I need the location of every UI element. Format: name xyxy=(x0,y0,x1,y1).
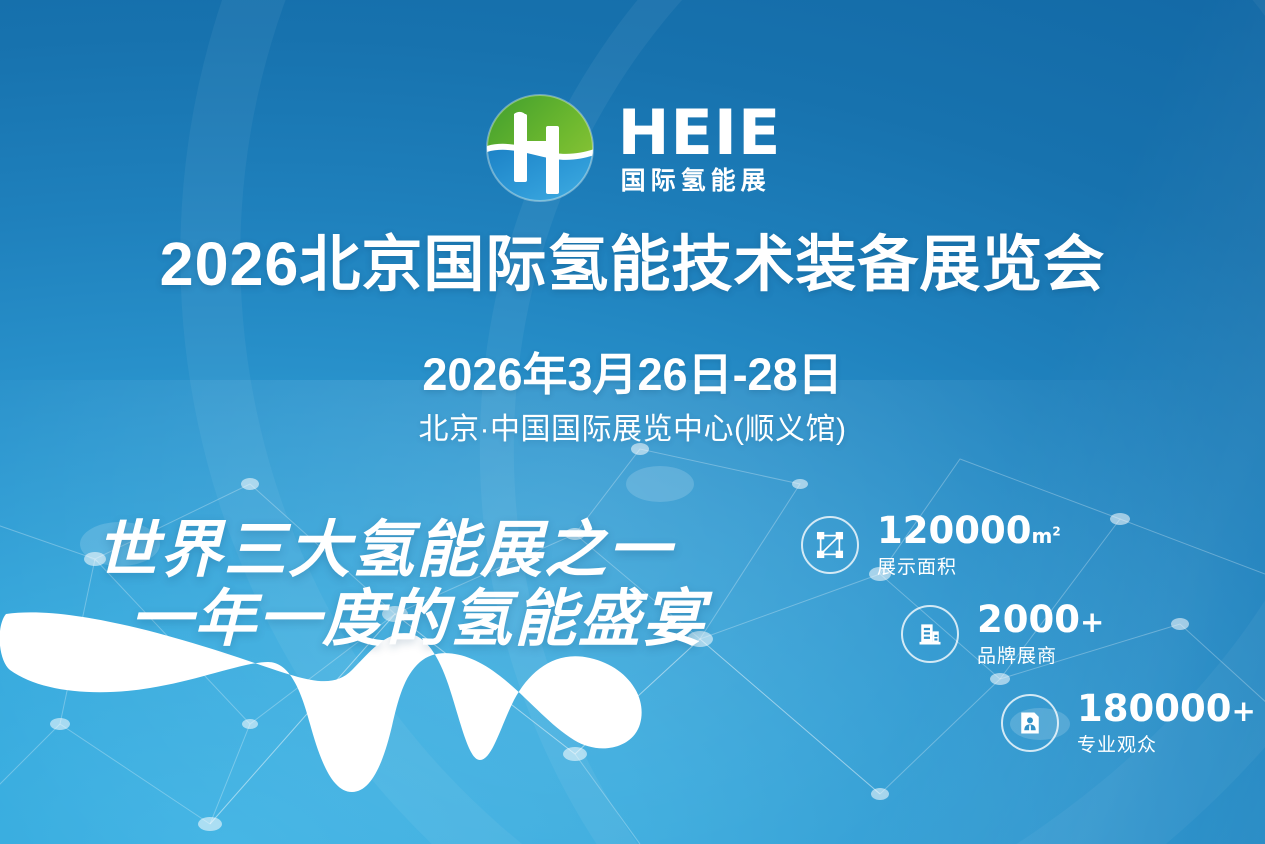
wordmark: HEIE 国际氢能展 xyxy=(618,104,782,194)
page-title: 2026北京国际氢能技术装备展览会 xyxy=(0,232,1265,298)
stat-suffix: + xyxy=(1231,694,1255,728)
stat-value: 120000m2 xyxy=(877,512,1061,549)
stat-value: 180000+ xyxy=(1077,690,1256,727)
stat-value: 2000+ xyxy=(977,601,1104,638)
building-icon xyxy=(901,605,959,663)
wordmark-cn: 国际氢能展 xyxy=(618,169,771,194)
stat-text: 2000+ 品牌展商 xyxy=(977,601,1104,666)
stat-text: 120000m2 展示面积 xyxy=(877,512,1061,577)
stat-item: 2000+ 品牌展商 xyxy=(901,601,1265,666)
slogan-line-2: 一年一度的氢能盛宴 xyxy=(96,585,776,654)
stat-unit-sup: 2 xyxy=(1052,524,1060,538)
slogan-line-1: 世界三大氢能展之一 xyxy=(96,516,776,585)
stat-text: 180000+ 专业观众 xyxy=(1077,690,1256,755)
event-poster: HEIE 国际氢能展 2026北京国际氢能技术装备展览会 2026年3月26日-… xyxy=(0,0,1265,844)
event-date: 2026年3月26日-28日 xyxy=(0,350,1265,400)
stat-label: 品牌展商 xyxy=(977,647,1104,666)
brand-lockup: HEIE 国际氢能展 xyxy=(0,92,1265,204)
heie-logo-icon xyxy=(484,92,596,204)
stat-number: 2000 xyxy=(977,598,1080,641)
visitor-badge-icon xyxy=(1001,694,1059,752)
stat-suffix: + xyxy=(1080,605,1104,639)
stat-label: 专业观众 xyxy=(1077,736,1256,755)
stats-group: 120000m2 展示面积 xyxy=(795,512,1265,755)
stat-item: 120000m2 展示面积 xyxy=(801,512,1265,577)
area-frame-icon xyxy=(801,516,859,574)
slogan: 世界三大氢能展之一 一年一度的氢能盛宴 xyxy=(96,516,776,655)
stat-item: 180000+ 专业观众 xyxy=(1001,690,1265,755)
wordmark-en: HEIE xyxy=(618,104,782,161)
stat-number: 120000 xyxy=(877,509,1031,552)
stat-label: 展示面积 xyxy=(877,558,1061,577)
event-venue: 北京·中国国际展览中心(顺义馆) xyxy=(0,413,1265,448)
stat-number: 180000 xyxy=(1077,687,1231,730)
stat-unit: m2 xyxy=(1031,524,1060,548)
